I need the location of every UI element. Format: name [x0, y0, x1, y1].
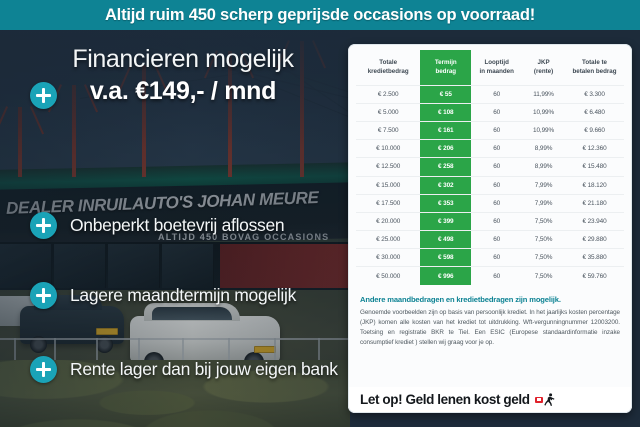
table-row: € 50.000 € 996 60 7,50% € 59.760	[356, 267, 624, 285]
cell-krediet: € 7.500	[356, 121, 420, 139]
cell-looptijd: 60	[471, 267, 522, 285]
promo-bullet-1: Onbeperkt boetevrij aflossen	[30, 212, 350, 239]
cell-totaal: € 59.760	[565, 267, 624, 285]
promo-bullet-3-label: Rente lager dan bij jouw eigen bank	[70, 359, 338, 380]
cell-looptijd: 60	[471, 249, 522, 267]
cell-totaal: € 9.660	[565, 121, 624, 139]
cell-termijn: € 258	[420, 158, 471, 176]
table-row: € 17.500 € 353 60 7,99% € 21.180	[356, 194, 624, 212]
column-header-looptijd: Looptijd in maanden	[471, 51, 522, 86]
table-row: € 2.500 € 55 60 11,99% € 3.300	[356, 85, 624, 103]
plus-icon	[30, 212, 57, 239]
promo-left-column: Financieren mogelijk v.a. €149,- / mnd O…	[0, 30, 350, 427]
rates-table-area: Totale kredietbedrag Termijn bedrag Loop…	[348, 44, 632, 289]
cell-looptijd: 60	[471, 231, 522, 249]
cell-jkp: 7,50%	[522, 231, 565, 249]
column-header-jkp: JKP (rente)	[522, 51, 565, 86]
top-banner-text: Altijd ruim 450 scherp geprijsde occasio…	[105, 6, 535, 25]
cell-totaal: € 23.940	[565, 212, 624, 230]
cell-krediet: € 10.000	[356, 140, 420, 158]
cell-looptijd: 60	[471, 158, 522, 176]
table-row: € 20.000 € 399 60 7,50% € 23.940	[356, 212, 624, 230]
cell-termijn: € 206	[420, 140, 471, 158]
rates-table-body: € 2.500 € 55 60 11,99% € 3.300 € 5.000 €…	[356, 85, 624, 285]
cell-jkp: 10,99%	[522, 103, 565, 121]
cell-looptijd: 60	[471, 121, 522, 139]
cell-jkp: 7,50%	[522, 212, 565, 230]
cell-totaal: € 6.480	[565, 103, 624, 121]
table-row: € 30.000 € 598 60 7,50% € 35.880	[356, 249, 624, 267]
cell-krediet: € 5.000	[356, 103, 420, 121]
afm-box-shape	[535, 397, 543, 403]
afm-warning-text: Let op! Geld lenen kost geld	[360, 392, 530, 407]
table-row: € 12.500 € 258 60 8,99% € 15.480	[356, 158, 624, 176]
plus-icon	[30, 282, 57, 309]
cell-krediet: € 15.000	[356, 176, 420, 194]
table-row: € 25.000 € 498 60 7,50% € 29.880	[356, 231, 624, 249]
cell-krediet: € 2.500	[356, 85, 420, 103]
cell-looptijd: 60	[471, 140, 522, 158]
cell-totaal: € 29.880	[565, 231, 624, 249]
cell-termijn: € 598	[420, 249, 471, 267]
top-banner: Altijd ruim 450 scherp geprijsde occasio…	[0, 0, 640, 30]
cell-termijn: € 108	[420, 103, 471, 121]
cell-termijn: € 498	[420, 231, 471, 249]
afm-warning-bar: Let op! Geld lenen kost geld	[348, 387, 632, 413]
cell-totaal: € 15.480	[565, 158, 624, 176]
cell-termijn: € 996	[420, 267, 471, 285]
promo-headline: Financieren mogelijk v.a. €149,- / mnd	[28, 46, 338, 107]
cell-looptijd: 60	[471, 212, 522, 230]
column-header-totaal: Totale te betalen bedrag	[565, 51, 624, 86]
cell-termijn: € 55	[420, 85, 471, 103]
cell-jkp: 7,99%	[522, 176, 565, 194]
cell-krediet: € 17.500	[356, 194, 420, 212]
promo-bullet-2-label: Lagere maandtermijn mogelijk	[70, 285, 296, 306]
table-row: € 5.000 € 108 60 10,99% € 6.480	[356, 103, 624, 121]
rates-card: Totale kredietbedrag Termijn bedrag Loop…	[348, 44, 632, 413]
table-row: € 10.000 € 206 60 8,99% € 12.360	[356, 140, 624, 158]
cell-termijn: € 353	[420, 194, 471, 212]
cell-looptijd: 60	[471, 103, 522, 121]
cell-looptijd: 60	[471, 194, 522, 212]
table-header-row: Totale kredietbedrag Termijn bedrag Loop…	[356, 51, 624, 86]
cell-jkp: 8,99%	[522, 140, 565, 158]
cell-krediet: € 12.500	[356, 158, 420, 176]
running-man-glyph	[544, 393, 555, 406]
cell-krediet: € 30.000	[356, 249, 420, 267]
cell-jkp: 7,50%	[522, 249, 565, 267]
promo-headline-line2: v.a. €149,- / mnd	[28, 76, 338, 107]
promo-bullet-1-label: Onbeperkt boetevrij aflossen	[70, 215, 284, 236]
cell-jkp: 7,50%	[522, 267, 565, 285]
table-row: € 15.000 € 302 60 7,99% € 18.120	[356, 176, 624, 194]
column-header-termijn: Termijn bedrag	[420, 51, 471, 86]
cell-termijn: € 302	[420, 176, 471, 194]
disclaimer-body: Genoemde voorbeelden zijn op basis van p…	[360, 308, 620, 349]
column-header-krediet: Totale kredietbedrag	[356, 51, 420, 86]
cell-looptijd: 60	[471, 85, 522, 103]
plus-icon	[30, 356, 57, 383]
cell-totaal: € 35.880	[565, 249, 624, 267]
cell-termijn: € 399	[420, 212, 471, 230]
cell-jkp: 8,99%	[522, 158, 565, 176]
financing-promo-banner: DEALER INRUILAUTO'S JOHAN MEURE ALTIJD 4…	[0, 0, 640, 427]
promo-bullet-2: Lagere maandtermijn mogelijk	[30, 282, 350, 309]
cell-jkp: 10,99%	[522, 121, 565, 139]
cell-jkp: 7,99%	[522, 194, 565, 212]
cell-totaal: € 18.120	[565, 176, 624, 194]
afm-running-man-icon	[535, 393, 555, 406]
cell-krediet: € 25.000	[356, 231, 420, 249]
table-row: € 7.500 € 161 60 10,99% € 9.660	[356, 121, 624, 139]
promo-headline-line1: Financieren mogelijk	[28, 46, 338, 74]
cell-totaal: € 3.300	[565, 85, 624, 103]
rates-table: Totale kredietbedrag Termijn bedrag Loop…	[356, 50, 624, 285]
disclaimer-title: Andere maandbedragen en kredietbedragen …	[360, 295, 620, 304]
cell-krediet: € 20.000	[356, 212, 420, 230]
disclaimer-block: Andere maandbedragen en kredietbedragen …	[348, 289, 632, 351]
cell-jkp: 11,99%	[522, 85, 565, 103]
cell-krediet: € 50.000	[356, 267, 420, 285]
promo-bullet-3: Rente lager dan bij jouw eigen bank	[30, 356, 350, 383]
cell-termijn: € 161	[420, 121, 471, 139]
cell-totaal: € 12.360	[565, 140, 624, 158]
cell-looptijd: 60	[471, 176, 522, 194]
cell-totaal: € 21.180	[565, 194, 624, 212]
